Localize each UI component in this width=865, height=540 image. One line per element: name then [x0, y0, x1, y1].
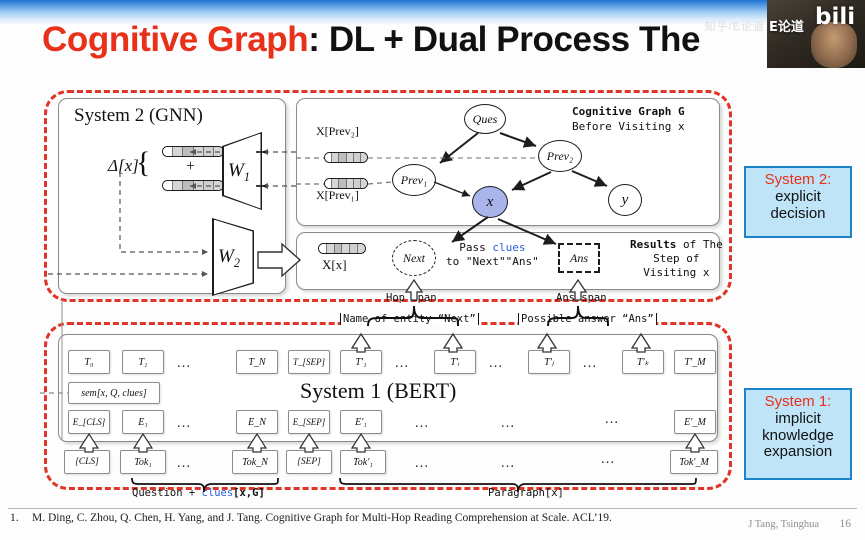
t-row-ellipsis-4: …: [582, 354, 599, 371]
e-row-ellipsis-2: …: [414, 414, 431, 431]
footer-divider: [8, 508, 857, 509]
overlay-channel-label: E论道: [769, 16, 804, 35]
vector-glyph-upper: [162, 146, 224, 157]
tok-1[interactable]: Tok₁: [120, 450, 166, 474]
footnote-citation: 1.M. Ding, C. Zhou, Q. Chen, H. Yang, an…: [10, 512, 612, 524]
t-row-ellipsis-2: …: [394, 354, 411, 371]
callout-system2[interactable]: System 2: explicit decision: [744, 166, 852, 238]
cognitive-graph-caption: Cognitive Graph G Before Visiting x: [572, 105, 685, 135]
question-clues-brace-label: Question + clues[x,G]: [132, 487, 265, 499]
e-row-ellipsis-3: …: [500, 414, 517, 431]
tok-cls[interactable]: [CLS]: [64, 450, 110, 474]
brace-delta-icon: {: [136, 146, 150, 180]
t-token-p1[interactable]: T′₁: [340, 350, 382, 374]
callout-system1-line2: knowledge: [762, 427, 834, 444]
slide-canvas: Cognitive Graph: DL + Dual Process The 知…: [0, 0, 865, 540]
callout-system1-line3: expansion: [764, 443, 832, 460]
graph-node-prev1[interactable]: Prev₁: [392, 164, 436, 196]
tok-n[interactable]: Tok_N: [232, 450, 278, 474]
graph-node-y[interactable]: y: [608, 184, 642, 216]
results-description: Results of The Step of Visiting x: [630, 238, 723, 279]
page-title: Cognitive Graph: DL + Dual Process The: [42, 20, 700, 60]
pass-clues-label: Pass clues to "Next""Ans": [446, 241, 539, 270]
callout-system2-head: System 2:: [746, 172, 850, 189]
callout-system2-line1: explicit: [775, 188, 821, 205]
t-token-n[interactable]: T_N: [236, 350, 278, 374]
system1-panel-title: System 1 (BERT): [300, 378, 456, 404]
e-token-p1[interactable]: E′₁: [340, 410, 382, 434]
footnote-number: 1.: [10, 512, 32, 524]
vector-glyph-lower: [162, 180, 224, 191]
t-row-ellipsis-1: …: [176, 354, 193, 371]
watermark-text: 知乎/E论道: [705, 18, 765, 34]
graph-node-ques[interactable]: Ques: [464, 104, 506, 134]
ans-span-label: Ans span: [556, 292, 607, 304]
presenter-credit: J Tang, Tsinghua: [748, 519, 819, 530]
plus-symbol: +: [186, 158, 195, 176]
tok-sep[interactable]: [SEP]: [286, 450, 332, 474]
tok-row-ellipsis-3: …: [500, 454, 517, 471]
t-token-pj[interactable]: T′ⱼ: [528, 350, 570, 374]
t-token-sep[interactable]: T_[SEP]: [288, 350, 330, 374]
t-token-pi[interactable]: T′ᵢ: [434, 350, 476, 374]
name-of-entity-label: Name of entity “Next”: [340, 313, 479, 325]
graph-node-x[interactable]: x: [472, 186, 508, 218]
sem-context-box[interactable]: sem[x, Q, clues]: [68, 382, 160, 404]
x-prev1-label: X[Prev₁]: [316, 188, 359, 203]
callout-system1-line1: implicit: [775, 410, 821, 427]
e-token-n[interactable]: E_N: [236, 410, 278, 434]
e-token-1[interactable]: E₁: [122, 410, 164, 434]
hop-span-label: Hop span: [386, 292, 437, 304]
vector-glyph-x: [318, 243, 366, 254]
page-title-rest: : DL + Dual Process The: [308, 20, 700, 59]
graph-node-prev2[interactable]: Prev₂: [538, 140, 582, 172]
t-token-pm[interactable]: T′_M: [674, 350, 716, 374]
paragraph-brace-label: Paragraph[x]: [488, 487, 564, 499]
t-token-pk[interactable]: T′ₖ: [622, 350, 664, 374]
webcam-overlay[interactable]: E论道 bili: [767, 0, 865, 68]
e-row-ellipsis-4: …: [604, 410, 621, 427]
possible-answer-label: Possible answer “Ans”: [518, 313, 657, 325]
t-row-ellipsis-3: …: [488, 354, 505, 371]
e-token-cls[interactable]: E_[CLS]: [68, 410, 110, 434]
t-token-1[interactable]: T₁: [122, 350, 164, 374]
w1-label: W1: [228, 160, 250, 185]
t-token-0[interactable]: T₀: [68, 350, 110, 374]
callout-system1[interactable]: System 1: implicit knowledge expansion: [744, 388, 852, 480]
e-token-pm[interactable]: E′_M: [674, 410, 716, 434]
e-row-ellipsis-1: …: [176, 414, 193, 431]
system2-panel-title: System 2 (GNN): [74, 105, 203, 127]
page-title-highlight: Cognitive Graph: [42, 20, 308, 59]
bilibili-logo-icon: bili: [815, 6, 855, 29]
tok-row-ellipsis-2: …: [414, 454, 431, 471]
footnote-text: M. Ding, C. Zhou, Q. Chen, H. Yang, and …: [32, 512, 612, 524]
w2-label: W2: [218, 246, 240, 271]
callout-system2-line2: decision: [770, 205, 825, 222]
graph-node-next[interactable]: Next: [392, 240, 436, 276]
page-number: 16: [840, 518, 852, 530]
tok-row-ellipsis-1: …: [176, 454, 193, 471]
x-of-x-label: X[x]: [322, 257, 347, 273]
delta-x-label: Δ[x]: [108, 156, 139, 176]
vector-glyph-prev2: [324, 152, 368, 163]
graph-node-ans[interactable]: Ans: [558, 243, 600, 273]
e-token-sep[interactable]: E_[SEP]: [288, 410, 330, 434]
tok-pm[interactable]: Tok′_M: [670, 450, 718, 474]
x-prev2-label: X[Prev₂]: [316, 124, 359, 139]
tok-row-ellipsis-4: …: [600, 450, 617, 467]
callout-system1-head: System 1:: [746, 394, 850, 411]
tok-p1[interactable]: Tok′₁: [340, 450, 386, 474]
